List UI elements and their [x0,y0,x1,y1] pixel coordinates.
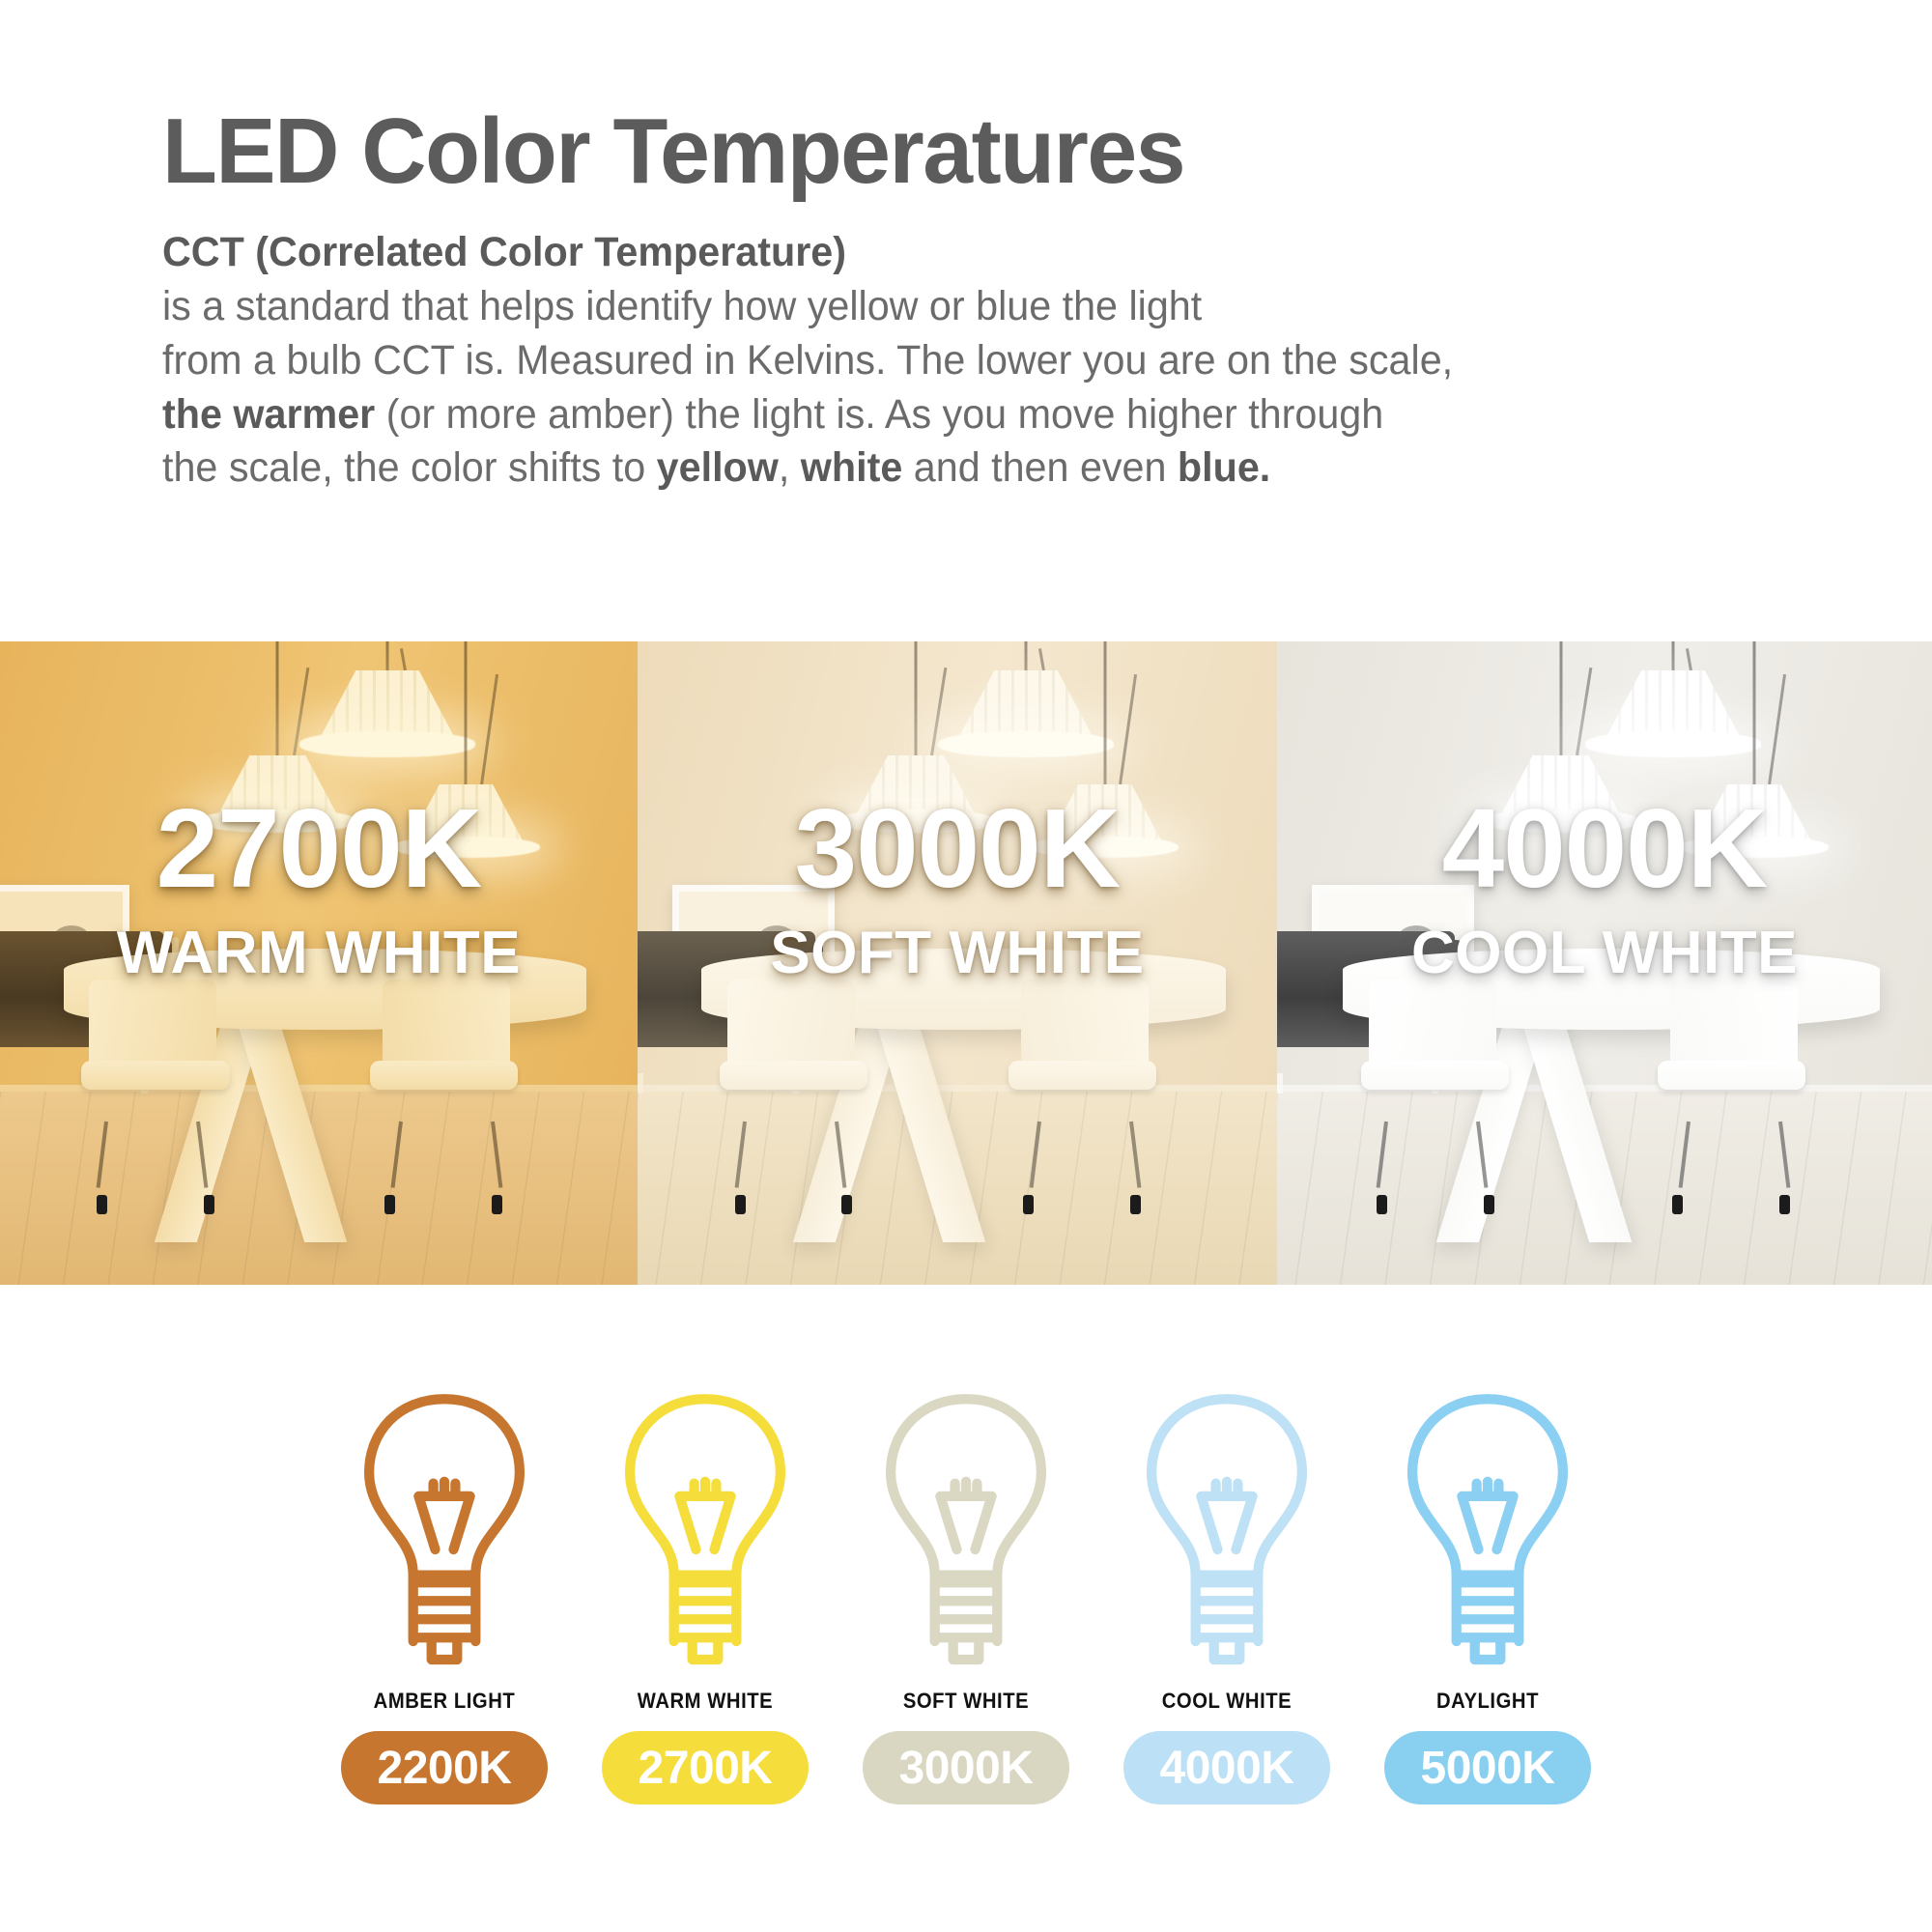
chair-back [1021,980,1149,1064]
intro-line-5-c: and then even [902,444,1178,491]
dining-chair [727,980,855,1124]
chair-foot [1484,1195,1494,1214]
light-bulb-icon [1396,1391,1579,1671]
chair-seat [370,1061,518,1090]
kelvin-swatch-5000k[interactable]: DAYLIGHT 5000K [1357,1381,1618,1804]
intro-line-5: the scale, the color shifts to yellow, w… [162,441,1861,496]
dining-chair [1369,980,1496,1124]
photo-comparison-strip: 2700K WARM WHITE [0,641,1932,1285]
lamp-cord [1672,641,1675,670]
lamp-cord [1025,641,1028,670]
intro-bold-blue: blue. [1178,444,1270,491]
lamp-diffuser [299,731,475,756]
intro-line-1: CCT (Correlated Color Temperature) [162,226,1861,280]
swatch-label: SOFT WHITE [846,1689,1086,1714]
room-panel-2700k: 2700K WARM WHITE [0,641,638,1285]
lamp-cord [915,641,918,755]
intro-bold-warmer: the warmer [162,391,375,438]
intro-bold-yellow: yellow [657,444,779,491]
intro-bold-white: white [801,444,903,491]
lamp-diffuser [938,731,1114,756]
pendant-lamp [957,670,1094,755]
chair-foot [841,1195,852,1214]
bulb-icon-wrapper [1357,1381,1618,1671]
pendant-lamp [319,670,456,755]
lamp-cord [465,641,468,784]
intro-line-4: the warmer (or more amber) the light is.… [162,388,1861,442]
chair-back [1369,980,1496,1064]
chair-back [89,980,216,1064]
chair-seat [1658,1061,1805,1090]
page-title: LED Color Temperatures [162,104,1879,199]
kelvin-pill[interactable]: 5000K [1384,1731,1591,1804]
room-panel-4000k: 4000K COOL WHITE [1277,641,1932,1285]
panel-kelvin-name: COOL WHITE [1277,923,1932,983]
chair-foot [204,1195,214,1214]
chair-back [1670,980,1798,1064]
chair-back [383,980,510,1064]
light-bulb-icon [613,1391,797,1671]
panel-kelvin-value: 2700K [0,792,638,904]
intro-sep: , [779,444,801,491]
chair-foot [735,1195,746,1214]
header: LED Color Temperatures CCT (Correlated C… [0,0,1932,496]
sofa-leg [638,1073,643,1094]
dining-chair [89,980,216,1124]
bulb-icon-wrapper [575,1381,836,1671]
kelvin-swatch-2700k[interactable]: WARM WHITE 2700K [575,1381,836,1804]
panel-kelvin-value: 3000K [638,792,1277,904]
lamp-cord [1103,641,1106,784]
bulb-icon-wrapper [836,1381,1096,1671]
chair-foot [1130,1195,1141,1214]
kelvin-pill[interactable]: 2200K [341,1731,548,1804]
light-bulb-icon [353,1391,536,1671]
intro-line-5-a: the scale, the color shifts to [162,444,657,491]
intro-paragraph: CCT (Correlated Color Temperature) is a … [162,226,1861,496]
chair-seat [720,1061,867,1090]
swatch-label: DAYLIGHT [1368,1689,1607,1714]
lamp-cord [1752,641,1755,784]
swatch-label: AMBER LIGHT [325,1689,564,1714]
lamp-shade [319,670,456,740]
chair-seat [1361,1061,1509,1090]
kelvin-pill[interactable]: 4000K [1123,1731,1330,1804]
chair-foot [97,1195,107,1214]
sofa-leg [1277,1073,1283,1094]
kelvin-pill[interactable]: 2700K [602,1731,809,1804]
swatch-label: WARM WHITE [585,1689,825,1714]
kelvin-swatch-3000k[interactable]: SOFT WHITE 3000K [836,1381,1096,1804]
dining-chair [1021,980,1149,1124]
kelvin-swatch-2200k[interactable]: AMBER LIGHT 2200K [314,1381,575,1804]
chair-foot [1377,1195,1387,1214]
kelvin-scale: AMBER LIGHT 2200K WARM WHITE 2700K [0,1381,1932,1804]
intro-line-2: is a standard that helps identify how ye… [162,280,1861,334]
pendant-lamp [1605,670,1742,755]
chair-seat [1009,1061,1156,1090]
lamp-cord [1559,641,1562,755]
panel-kelvin-name: WARM WHITE [0,923,638,983]
light-bulb-icon [874,1391,1058,1671]
chair-foot [1023,1195,1034,1214]
lamp-cord [386,641,389,670]
chair-foot [1672,1195,1683,1214]
dining-chair [1670,980,1798,1124]
bulb-icon-wrapper [314,1381,575,1671]
lamp-cord [276,641,279,755]
room-panel-3000k: 3000K SOFT WHITE [638,641,1277,1285]
chair-back [727,980,855,1064]
lamp-shade [957,670,1094,740]
chair-foot [1779,1195,1790,1214]
light-bulb-icon [1135,1391,1319,1671]
panel-kelvin-value: 4000K [1277,792,1932,904]
chair-foot [492,1195,502,1214]
dining-chair [383,980,510,1124]
intro-line-3: from a bulb CCT is. Measured in Kelvins.… [162,334,1861,388]
intro-line-4-rest: (or more amber) the light is. As you mov… [375,391,1383,438]
swatch-label: COOL WHITE [1107,1689,1347,1714]
kelvin-pill[interactable]: 3000K [863,1731,1069,1804]
chair-foot [384,1195,395,1214]
chair-seat [81,1061,229,1090]
lamp-shade [1605,670,1742,740]
bulb-icon-wrapper [1096,1381,1357,1671]
panel-kelvin-name: SOFT WHITE [638,923,1277,983]
lamp-diffuser [1585,731,1761,756]
kelvin-swatch-4000k[interactable]: COOL WHITE 4000K [1096,1381,1357,1804]
